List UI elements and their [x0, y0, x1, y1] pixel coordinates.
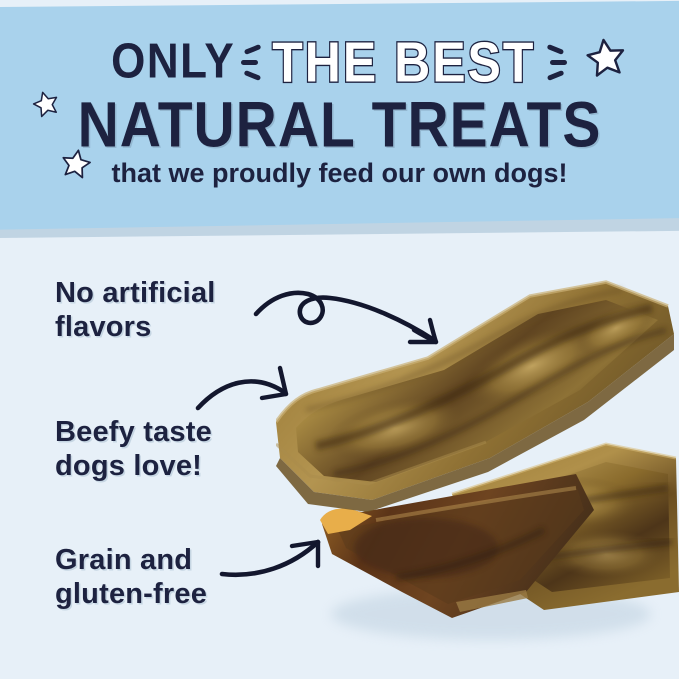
- headline-line-2: NATURAL TREATS: [0, 88, 679, 162]
- feature-3-line-1: Grain and: [55, 543, 207, 577]
- feature-1: No artificial flavors: [55, 276, 216, 344]
- rays-right-icon: [542, 36, 568, 88]
- feature-2-line-2: dogs love!: [55, 449, 212, 483]
- feature-1-line-1: No artificial: [55, 276, 216, 310]
- star-small-left-lower: [60, 148, 92, 185]
- star-large-right: [585, 37, 627, 84]
- headline-line-1: ONLY THE BEST: [0, 33, 679, 91]
- headline-word-the-best: THE BEST: [272, 29, 535, 95]
- feature-3: Grain and gluten-free: [55, 543, 207, 611]
- product-infographic: ONLY THE BEST NATURAL TREATS that we pro…: [0, 0, 679, 679]
- feature-2-line-1: Beefy taste: [55, 415, 212, 449]
- headline-word-only: ONLY: [111, 34, 235, 90]
- dog-chew-treats-photo: [276, 262, 679, 662]
- feature-3-line-2: gluten-free: [55, 577, 207, 611]
- header-subtitle: that we proudly feed our own dogs!: [0, 158, 679, 189]
- rays-left-icon: [240, 36, 266, 88]
- star-small-left-upper: [32, 90, 60, 123]
- feature-2: Beefy taste dogs love!: [55, 415, 212, 483]
- feature-1-line-2: flavors: [55, 310, 216, 344]
